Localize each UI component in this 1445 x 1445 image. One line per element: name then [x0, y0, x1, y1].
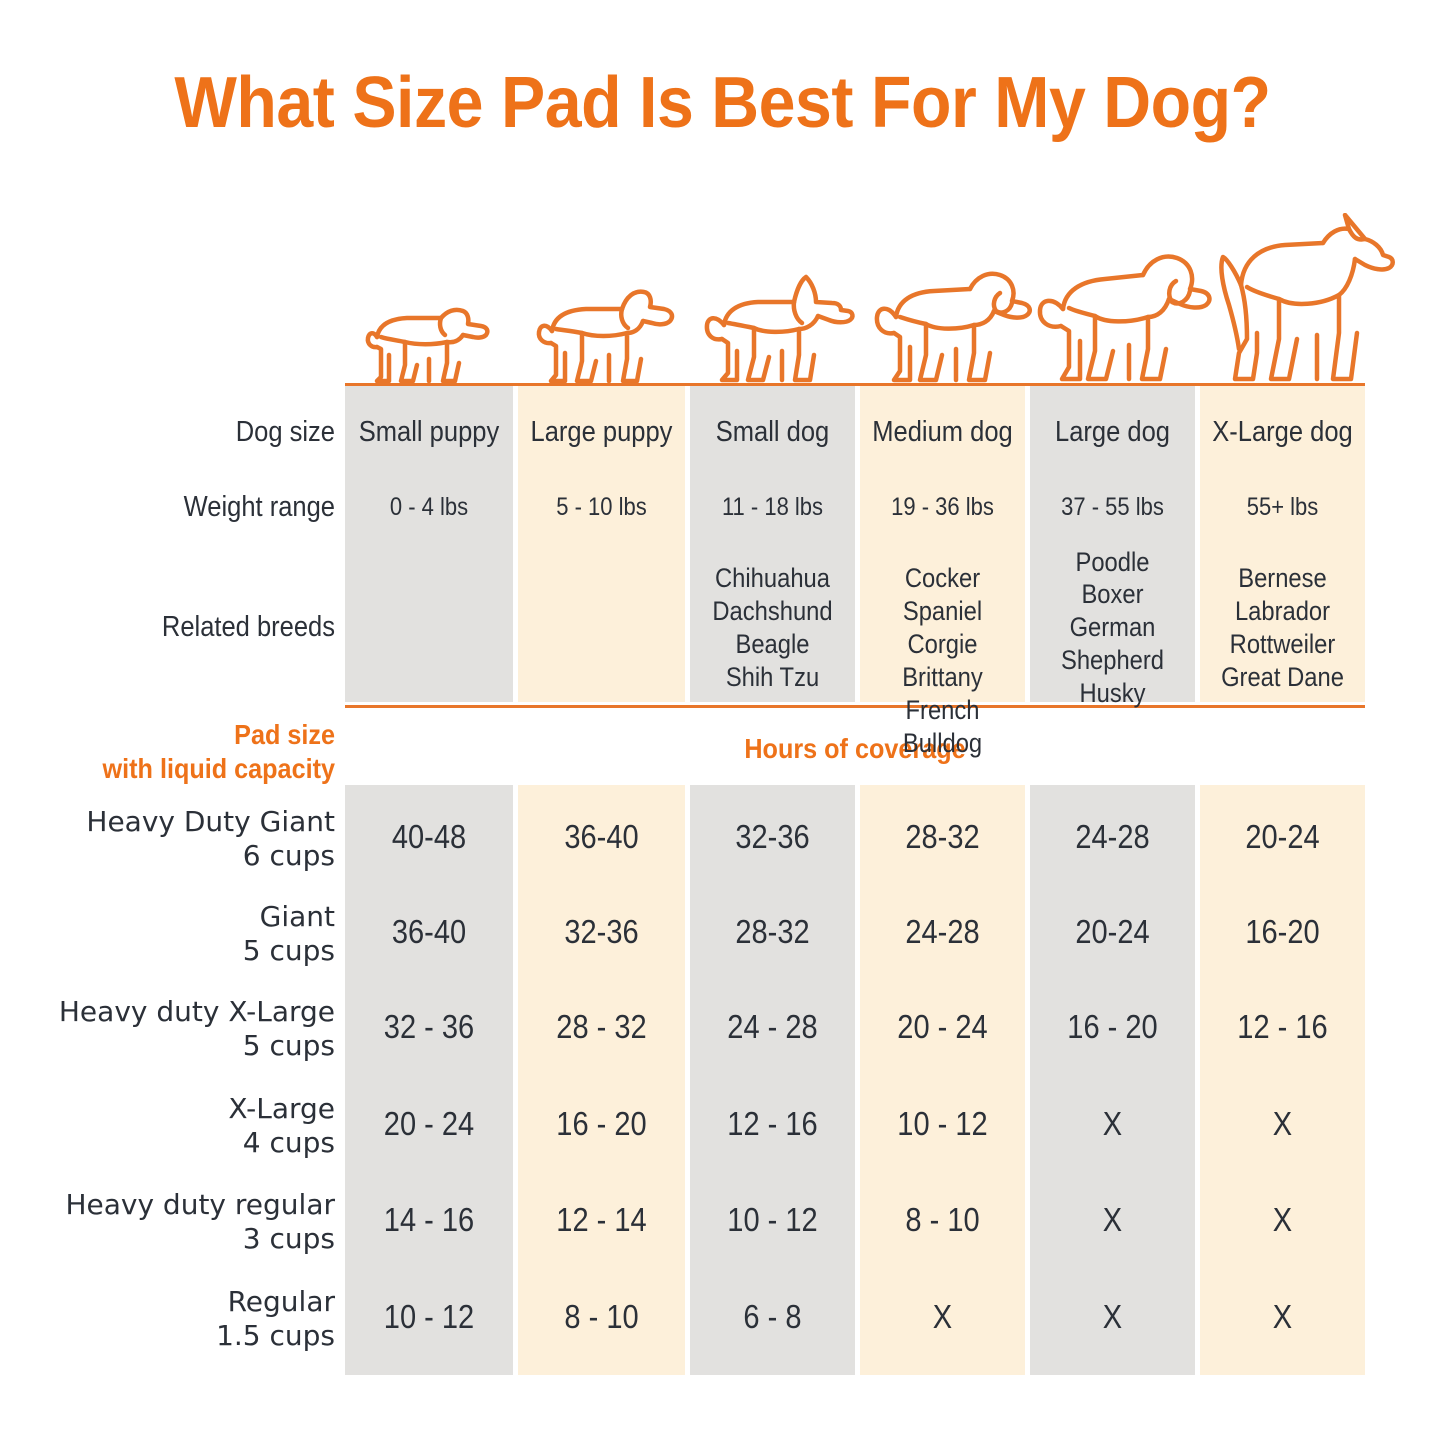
- cell-r3-medium-dog: 10 - 12: [870, 1104, 1015, 1144]
- cell-r2-large-dog: 16 - 20: [1040, 1007, 1185, 1047]
- breed-item: Beagle: [735, 629, 809, 659]
- weight-range-large-puppy: 5 - 10 lbs: [528, 492, 675, 523]
- weight-range-xlarge-dog: 55+ lbs: [1210, 492, 1355, 523]
- comparison-table: Dog size Weight range Related breeds Pad…: [0, 0, 1445, 1445]
- breed-item: Husky: [1079, 678, 1145, 708]
- pad-name: Heavy duty X-Large: [59, 995, 335, 1028]
- cell-r2-large-puppy: 28 - 32: [528, 1007, 675, 1047]
- breed-item: Dachshund: [712, 596, 832, 626]
- cell-r4-small-dog: 10 - 12: [700, 1200, 845, 1240]
- breed-item: Chihuahua: [715, 563, 830, 593]
- cell-r1-xlarge-dog: 16-20: [1210, 912, 1355, 952]
- breed-item: Labrador: [1235, 596, 1330, 626]
- divider-middle: [345, 705, 1365, 708]
- breed-item: Cocker Spaniel: [903, 563, 982, 626]
- dog-size-small-puppy: Small puppy: [355, 415, 503, 450]
- cell-r2-small-puppy: 32 - 36: [355, 1007, 503, 1047]
- cell-r4-xlarge-dog: X: [1210, 1200, 1355, 1240]
- dog-size-large-puppy: Large puppy: [528, 415, 675, 450]
- breed-item: Bernese: [1238, 563, 1327, 593]
- cell-r3-small-dog: 12 - 16: [700, 1104, 845, 1144]
- cell-r0-small-dog: 32-36: [700, 817, 845, 857]
- pad-capacity: 3 cups: [243, 1222, 335, 1255]
- cell-r4-small-puppy: 14 - 16: [355, 1200, 503, 1240]
- breed-item: Rottweiler: [1230, 629, 1336, 659]
- breed-item: Shepherd: [1061, 645, 1164, 675]
- pad-row-label-4: Heavy duty regular3 cups: [40, 1188, 335, 1256]
- cell-r5-small-dog: 6 - 8: [700, 1297, 845, 1337]
- related-breeds-medium-dog: Cocker SpanielCorgieBrittanyFrench Bulld…: [870, 562, 1015, 760]
- cell-r5-large-dog: X: [1040, 1297, 1185, 1337]
- cell-r5-xlarge-dog: X: [1210, 1297, 1355, 1337]
- pad-capacity: 5 cups: [243, 934, 335, 967]
- related-breeds-large-dog: PoodleBoxerGermanShepherdHusky: [1040, 546, 1185, 711]
- weight-range-small-dog: 11 - 18 lbs: [700, 492, 845, 523]
- dog-size-medium-dog: Medium dog: [870, 415, 1015, 450]
- cell-r3-large-dog: X: [1040, 1104, 1185, 1144]
- cell-r1-large-dog: 20-24: [1040, 912, 1185, 952]
- cell-r3-large-puppy: 16 - 20: [528, 1104, 675, 1144]
- pad-capacity: 6 cups: [243, 839, 335, 872]
- cell-r2-small-dog: 24 - 28: [700, 1007, 845, 1047]
- cell-r1-small-puppy: 36-40: [355, 912, 503, 952]
- cell-r3-small-puppy: 20 - 24: [355, 1104, 503, 1144]
- weight-range-large-dog: 37 - 55 lbs: [1040, 492, 1185, 523]
- cell-r1-small-dog: 28-32: [700, 912, 845, 952]
- divider-top: [345, 383, 1365, 386]
- pad-name: Giant: [260, 900, 335, 933]
- pad-size-label-line2: with liquid capacity: [103, 753, 335, 784]
- cell-r4-large-dog: X: [1040, 1200, 1185, 1240]
- cell-r4-medium-dog: 8 - 10: [870, 1200, 1015, 1240]
- pad-row-label-3: X-Large4 cups: [40, 1092, 335, 1160]
- row-header-weight-range: Weight range: [75, 490, 335, 525]
- cell-r1-medium-dog: 24-28: [870, 912, 1015, 952]
- cell-r0-large-dog: 24-28: [1040, 817, 1185, 857]
- cell-r4-large-puppy: 12 - 14: [528, 1200, 675, 1240]
- breed-item: French Bulldog: [903, 695, 982, 758]
- cell-r2-medium-dog: 20 - 24: [870, 1007, 1015, 1047]
- cell-r5-medium-dog: X: [870, 1297, 1015, 1337]
- pad-capacity: 4 cups: [243, 1126, 335, 1159]
- cell-r5-small-puppy: 10 - 12: [355, 1297, 503, 1337]
- cell-r3-xlarge-dog: X: [1210, 1104, 1355, 1144]
- pad-size-label-line1: Pad size: [234, 719, 335, 750]
- pad-name: Heavy Duty Giant: [86, 805, 335, 838]
- row-header-dog-size: Dog size: [75, 415, 335, 450]
- pad-capacity: 5 cups: [243, 1029, 335, 1062]
- cell-r2-xlarge-dog: 12 - 16: [1210, 1007, 1355, 1047]
- dog-size-small-dog: Small dog: [700, 415, 845, 450]
- cell-r0-large-puppy: 36-40: [528, 817, 675, 857]
- breed-item: Brittany: [902, 662, 983, 692]
- pad-capacity: 1.5 cups: [216, 1319, 335, 1352]
- breed-item: Poodle: [1075, 547, 1149, 577]
- weight-range-small-puppy: 0 - 4 lbs: [355, 492, 503, 523]
- breed-item: German: [1070, 612, 1156, 642]
- dog-size-large-dog: Large dog: [1040, 415, 1185, 450]
- hours-of-coverage-label: Hours of coverage: [396, 733, 1314, 765]
- breed-item: Corgie: [907, 629, 977, 659]
- pad-name: Regular: [228, 1285, 335, 1318]
- pad-row-label-1: Giant5 cups: [40, 900, 335, 968]
- cell-r5-large-puppy: 8 - 10: [528, 1297, 675, 1337]
- breed-item: Boxer: [1081, 579, 1143, 609]
- cell-r0-small-puppy: 40-48: [355, 817, 503, 857]
- row-header-related-breeds: Related breeds: [75, 610, 335, 645]
- pad-row-label-0: Heavy Duty Giant6 cups: [40, 805, 335, 873]
- pad-name: Heavy duty regular: [65, 1188, 335, 1221]
- breed-item: Great Dane: [1221, 662, 1344, 692]
- breed-item: Shih Tzu: [726, 662, 819, 692]
- weight-range-medium-dog: 19 - 36 lbs: [870, 492, 1015, 523]
- pad-row-label-5: Regular1.5 cups: [40, 1285, 335, 1353]
- pad-row-label-2: Heavy duty X-Large5 cups: [40, 995, 335, 1063]
- dog-size-xlarge-dog: X-Large dog: [1210, 415, 1355, 450]
- related-breeds-xlarge-dog: BerneseLabradorRottweilerGreat Dane: [1210, 562, 1355, 694]
- cell-r1-large-puppy: 32-36: [528, 912, 675, 952]
- related-breeds-small-dog: ChihuahuaDachshundBeagleShih Tzu: [700, 562, 845, 694]
- cell-r0-medium-dog: 28-32: [870, 817, 1015, 857]
- cell-r0-xlarge-dog: 20-24: [1210, 817, 1355, 857]
- pad-name: X-Large: [228, 1092, 335, 1125]
